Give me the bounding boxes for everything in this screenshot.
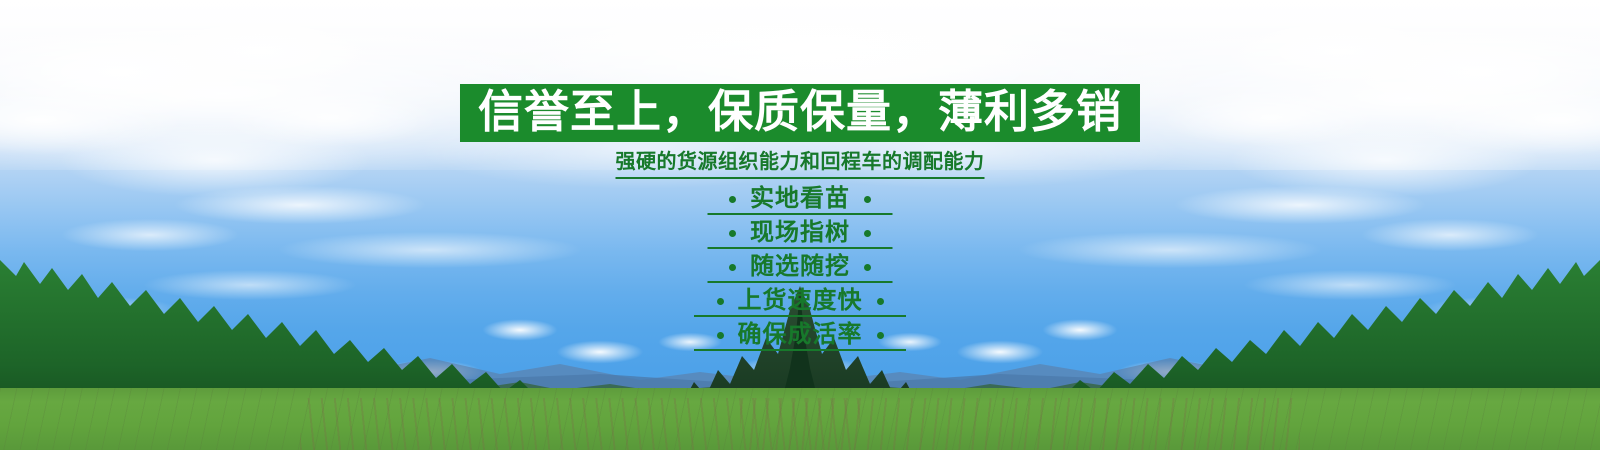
feature-item: 随选随挖	[590, 249, 1010, 283]
bullet-dot-icon	[717, 298, 724, 305]
bullet-dot-icon	[717, 332, 724, 339]
feature-list: 实地看苗 现场指树 随选随挖 上货速度快	[590, 181, 1010, 351]
bullet-dot-icon	[729, 230, 736, 237]
banner-subtitle: 强硬的货源组织能力和回程车的调配能力	[616, 145, 985, 179]
feature-label: 上货速度快	[738, 288, 863, 312]
green-crop-field	[0, 388, 1600, 450]
feature-item: 确保成活率	[590, 317, 1010, 351]
feature-item: 实地看苗	[590, 181, 1010, 215]
feature-label: 实地看苗	[750, 186, 850, 210]
feature-divider	[694, 349, 906, 351]
headline-text: 信誉至上，保质保量，薄利多销	[478, 88, 1122, 135]
bullet-dot-icon	[864, 196, 871, 203]
crop-furrow-rows-right	[740, 398, 1300, 450]
feature-label: 确保成活率	[738, 322, 863, 346]
bullet-dot-icon	[877, 298, 884, 305]
bullet-dot-icon	[864, 264, 871, 271]
bullet-dot-icon	[729, 264, 736, 271]
bullet-dot-icon	[729, 196, 736, 203]
feature-item: 上货速度快	[590, 283, 1010, 317]
feature-label: 现场指树	[750, 220, 850, 244]
feature-label: 随选随挖	[750, 254, 850, 278]
headline-banner-bar: 信誉至上，保质保量，薄利多销	[460, 84, 1140, 142]
feature-item: 现场指树	[590, 215, 1010, 249]
promo-banner: 信誉至上，保质保量，薄利多销 强硬的货源组织能力和回程车的调配能力 实地看苗 现…	[0, 0, 1600, 450]
bullet-dot-icon	[864, 230, 871, 237]
bullet-dot-icon	[877, 332, 884, 339]
